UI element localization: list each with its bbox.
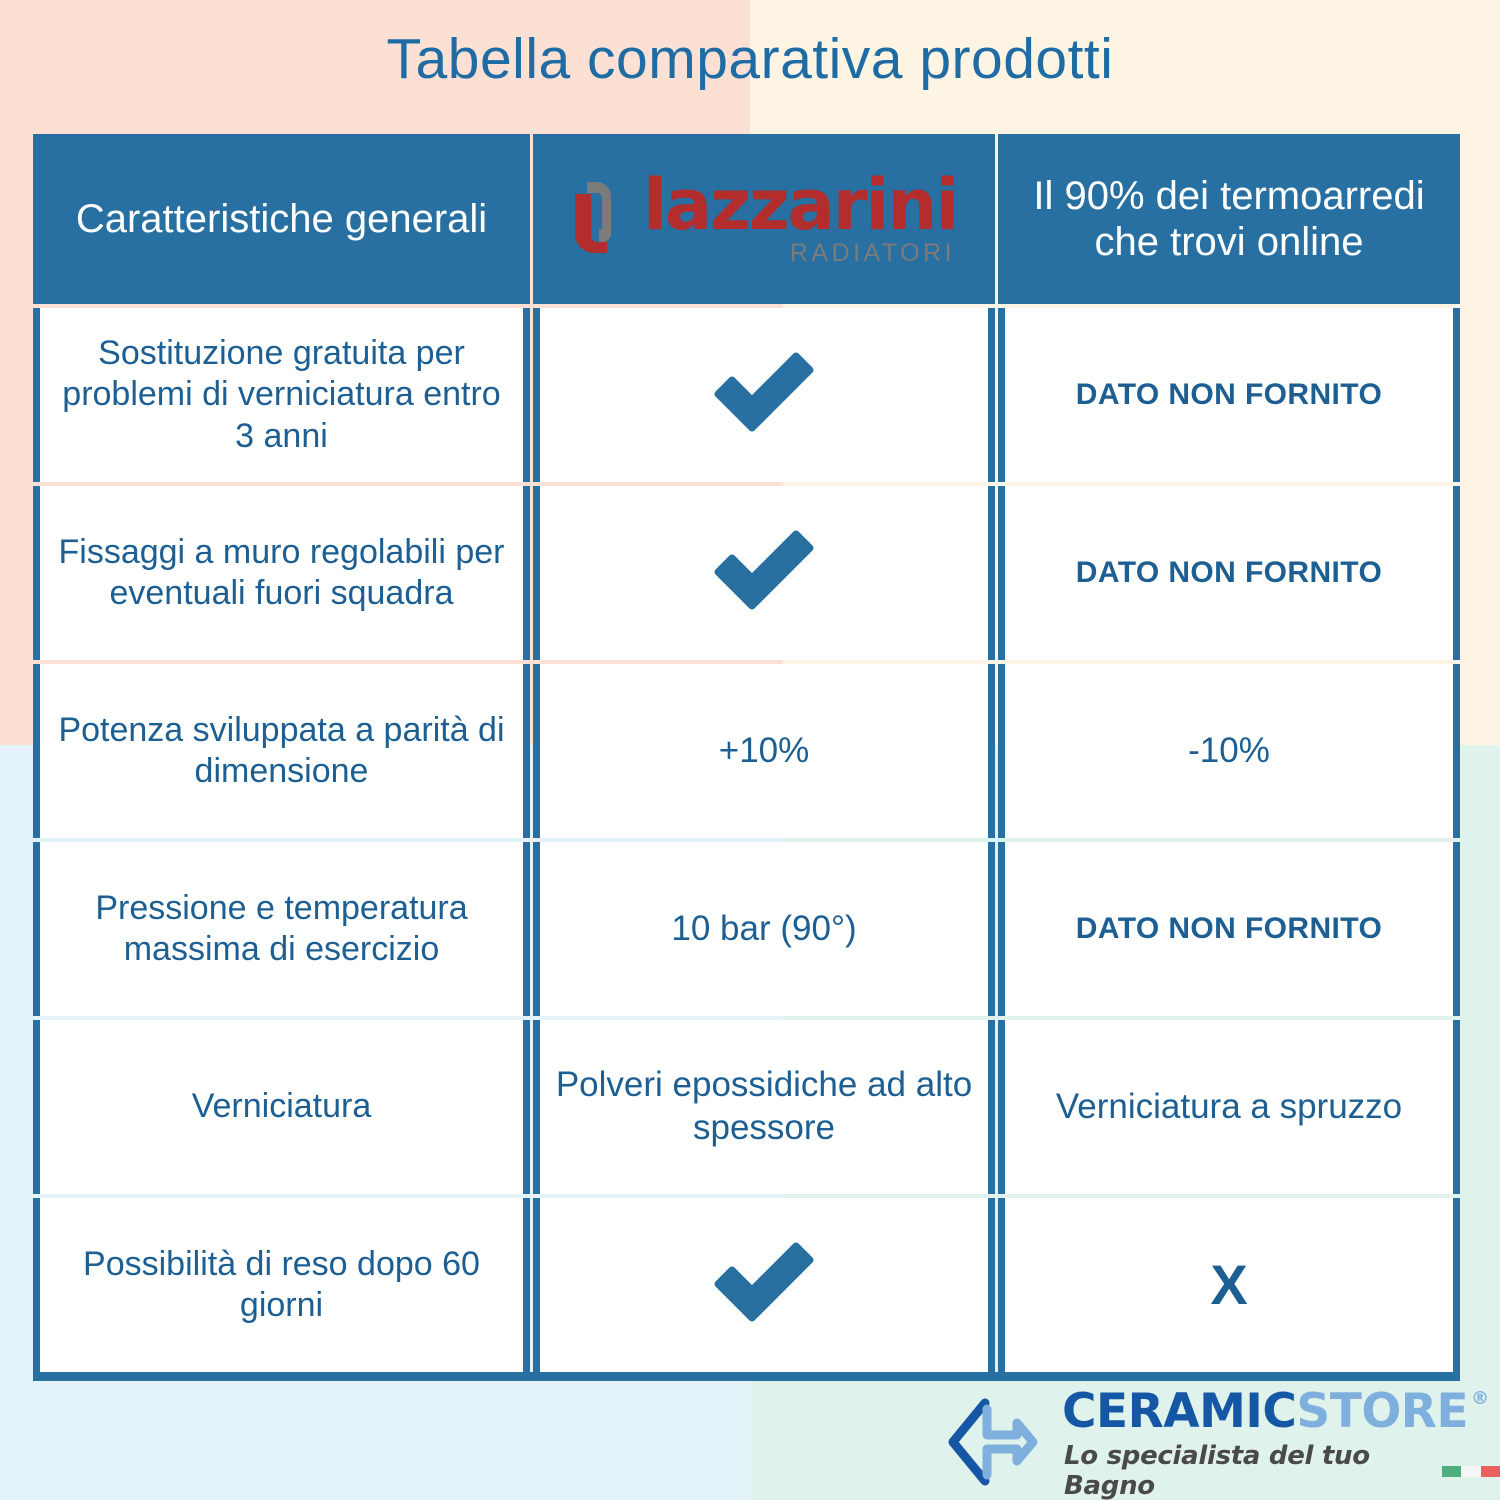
ceramicstore-logo[interactable]: CERAMIC STORE ® Lo specialista del tuo B… — [945, 1388, 1500, 1501]
checkmark-icon — [704, 528, 824, 618]
lazzarini-cell — [533, 486, 995, 660]
competitor-cell: DATO NON FORNITO — [998, 486, 1460, 660]
lazzarini-subtitle: RADIATORI — [790, 241, 955, 266]
competitor-cross-icon: X — [1210, 1257, 1247, 1313]
table-row: VerniciaturaPolveri epossidiche ad alto … — [33, 1020, 1460, 1194]
table-header-row: Caratteristiche generali lazzarini RADIA… — [33, 134, 1460, 304]
registered-mark-icon: ® — [1471, 1390, 1489, 1408]
table-bottom-border — [33, 1372, 1460, 1381]
italian-flag-icon — [1442, 1466, 1500, 1477]
ceramicstore-wordmark: CERAMIC STORE ® — [1062, 1388, 1500, 1435]
table-body: Sostituzione gratuita per problemi di ve… — [33, 304, 1460, 1372]
lazzarini-mark-icon — [571, 178, 629, 261]
lazzarini-wordmark: lazzarini — [643, 172, 957, 239]
competitor-value: Verniciatura a spruzzo — [1056, 1086, 1402, 1129]
feature-cell: Fissaggi a muro regolabili per eventuali… — [33, 486, 530, 660]
checkmark-icon — [704, 1240, 824, 1330]
competitor-value: DATO NON FORNITO — [1076, 911, 1382, 948]
tagline-row: Lo specialista del tuo Bagno — [1064, 1441, 1500, 1501]
lazzarini-wordmark-block: lazzarini RADIATORI — [643, 172, 957, 266]
header-cell-competitors: Il 90% dei termoarredi che trovi online — [998, 134, 1460, 304]
competitor-cell: -10% — [998, 664, 1460, 838]
table-row: Sostituzione gratuita per problemi di ve… — [33, 308, 1460, 482]
lazzarini-cell: +10% — [533, 664, 995, 838]
page-title: Tabella comparativa prodotti — [0, 28, 1500, 92]
header-cell-features: Caratteristiche generali — [33, 134, 530, 304]
lazzarini-cell — [533, 1198, 995, 1372]
comparison-table: Caratteristiche generali lazzarini RADIA… — [33, 134, 1460, 1381]
brand-secondary: STORE — [1296, 1388, 1468, 1435]
lazzarini-value: Polveri epossidiche ad alto spessore — [554, 1064, 974, 1149]
feature-cell: Sostituzione gratuita per problemi di ve… — [33, 308, 530, 482]
lazzarini-value: 10 bar (90°) — [671, 908, 856, 951]
lazzarini-cell: Polveri epossidiche ad alto spessore — [533, 1020, 995, 1194]
lazzarini-cell: 10 bar (90°) — [533, 842, 995, 1016]
checkmark-icon — [704, 350, 824, 440]
feature-cell: Verniciatura — [33, 1020, 530, 1194]
table-row: Fissaggi a muro regolabili per eventuali… — [33, 486, 1460, 660]
table-row: Pressione e temperatura massima di eserc… — [33, 842, 1460, 1016]
ceramicstore-text-block: CERAMIC STORE ® Lo specialista del tuo B… — [1062, 1388, 1500, 1501]
competitor-cell: DATO NON FORNITO — [998, 842, 1460, 1016]
feature-cell: Pressione e temperatura massima di eserc… — [33, 842, 530, 1016]
feature-cell: Potenza sviluppata a parità di dimension… — [33, 664, 530, 838]
lazzarini-logo: lazzarini RADIATORI — [547, 172, 981, 266]
competitor-cell: DATO NON FORNITO — [998, 308, 1460, 482]
competitor-value: DATO NON FORNITO — [1076, 555, 1382, 592]
competitor-value: DATO NON FORNITO — [1076, 377, 1382, 414]
header-cell-lazzarini-logo: lazzarini RADIATORI — [533, 134, 995, 304]
competitor-cell: Verniciatura a spruzzo — [998, 1020, 1460, 1194]
competitor-value: -10% — [1188, 730, 1270, 773]
competitor-cell: X — [998, 1198, 1460, 1372]
table-row: Potenza sviluppata a parità di dimension… — [33, 664, 1460, 838]
ceramicstore-mark-icon — [945, 1395, 1040, 1495]
brand-primary: CERAMIC — [1062, 1388, 1296, 1435]
lazzarini-value: +10% — [719, 730, 810, 773]
table-row: Possibilità di reso dopo 60 giorniX — [33, 1198, 1460, 1372]
tagline: Lo specialista del tuo Bagno — [1064, 1441, 1428, 1501]
feature-cell: Possibilità di reso dopo 60 giorni — [33, 1198, 530, 1372]
lazzarini-cell — [533, 308, 995, 482]
